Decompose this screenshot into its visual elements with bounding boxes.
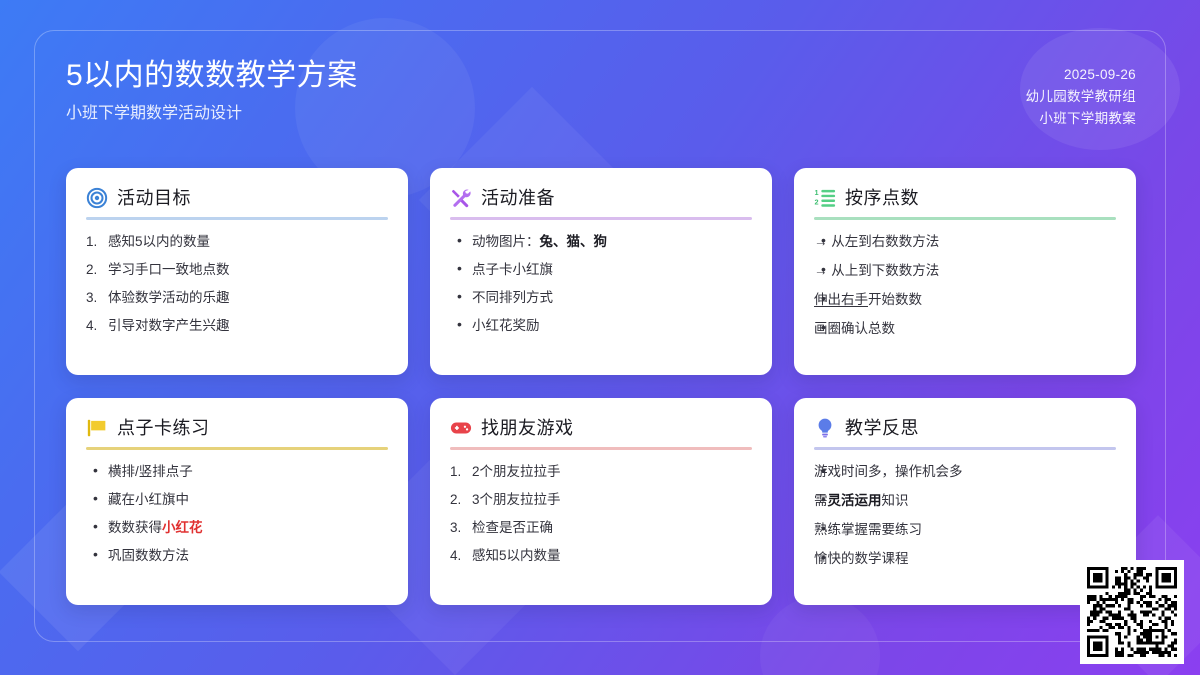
meta-scope: 小班下学期教案 xyxy=(1026,108,1136,130)
meta-org: 幼儿园数学教研组 xyxy=(1026,86,1136,108)
lightbulb-icon xyxy=(814,417,836,439)
meta-date: 2025-09-26 xyxy=(1026,64,1136,86)
goals-list: 感知5以内的数量 学习手口一致地点数 体验数学活动的乐趣 引导对数字产生兴趣 xyxy=(86,232,388,335)
numbered-list-icon: 1 2 xyxy=(814,187,836,209)
svg-text:1: 1 xyxy=(814,188,818,197)
card-find-friend-game[interactable]: 找朋友游戏 2个朋友拉拉手 3个朋友拉拉手 检查是否正确 感知5以内数量 xyxy=(430,398,772,605)
flag-icon xyxy=(86,417,108,439)
list-item-emphasis: 灵活运用 xyxy=(828,493,882,508)
card-header: 教学反思 xyxy=(814,416,1116,447)
card-header: 点子卡练习 xyxy=(86,416,388,447)
list-item: 小红花奖励 xyxy=(450,316,752,335)
qr-code[interactable] xyxy=(1080,560,1184,664)
card-underline xyxy=(450,217,752,220)
reflection-list: 游戏时间多，操作机会多 需灵活运用知识 熟练掌握需要练习 愉快的数学课程 xyxy=(814,462,1116,568)
list-item: 巩固数数方法 xyxy=(86,546,388,565)
list-item: 学习手口一致地点数 xyxy=(86,260,388,279)
svg-text:2: 2 xyxy=(814,198,818,207)
card-title: 点子卡练习 xyxy=(117,416,210,440)
list-item: 游戏时间多，操作机会多 xyxy=(814,462,1116,481)
card-header: 活动目标 xyxy=(86,186,388,217)
card-underline xyxy=(814,447,1116,450)
card-dot-card-practice[interactable]: 点子卡练习 横排/竖排点子 藏在小红旗中 数数获得小红花 巩固数数方法 xyxy=(66,398,408,605)
card-activity-prep[interactable]: 活动准备 动物图片：兔、猫、狗 点子卡小红旗 不同排列方式 小红花奖励 xyxy=(430,168,772,375)
card-header: 1 2 按序点数 xyxy=(814,186,1116,217)
card-title: 找朋友游戏 xyxy=(481,416,574,440)
page-subtitle: 小班下学期数学活动设计 xyxy=(66,101,358,127)
list-item-text: 需 xyxy=(814,493,828,508)
prep-list: 动物图片：兔、猫、狗 点子卡小红旗 不同排列方式 小红花奖励 xyxy=(450,232,752,335)
list-item: → 从左到右数数方法 xyxy=(814,232,1116,251)
list-item: 2个朋友拉拉手 xyxy=(450,462,752,481)
list-item: → 从上到下数数方法 xyxy=(814,261,1116,280)
card-header: 活动准备 xyxy=(450,186,752,217)
list-item: 引导对数字产生兴趣 xyxy=(86,316,388,335)
card-title: 按序点数 xyxy=(845,186,919,210)
list-item-text: 动物图片： xyxy=(472,234,540,249)
tools-icon xyxy=(450,187,472,209)
list-item-emphasis: 伸出右手 xyxy=(814,292,868,307)
counting-list: → 从左到右数数方法 → 从上到下数数方法 伸出右手开始数数 画圈确认总数 xyxy=(814,232,1116,338)
list-item: 3个朋友拉拉手 xyxy=(450,490,752,509)
practice-list: 横排/竖排点子 藏在小红旗中 数数获得小红花 巩固数数方法 xyxy=(86,462,388,565)
card-underline xyxy=(86,447,388,450)
list-item: 伸出右手开始数数 xyxy=(814,290,1116,309)
qr-code-image xyxy=(1087,567,1177,657)
list-item-text: 开始数数 xyxy=(868,292,922,307)
list-item: 体验数学活动的乐趣 xyxy=(86,288,388,307)
header-meta: 2025-09-26 幼儿园数学教研组 小班下学期教案 xyxy=(1026,64,1136,130)
target-icon xyxy=(86,187,108,209)
list-item: 感知5以内数量 xyxy=(450,546,752,565)
list-item: 检查是否正确 xyxy=(450,518,752,537)
card-title: 活动准备 xyxy=(481,186,555,210)
card-ordered-counting[interactable]: 1 2 按序点数 → 从左到右数数方法 → 从上到下数数方法 伸出右手开始数数 … xyxy=(794,168,1136,375)
list-item-emphasis: 小红花 xyxy=(162,520,203,535)
card-underline xyxy=(86,217,388,220)
card-header: 找朋友游戏 xyxy=(450,416,752,447)
list-item-text-after: 知识 xyxy=(882,493,909,508)
slide-root: 5以内的数数教学方案 小班下学期数学活动设计 2025-09-26 幼儿园数学教… xyxy=(0,0,1200,675)
list-item: 横排/竖排点子 xyxy=(86,462,388,481)
card-activity-goals[interactable]: 活动目标 感知5以内的数量 学习手口一致地点数 体验数学活动的乐趣 引导对数字产… xyxy=(66,168,408,375)
game-list: 2个朋友拉拉手 3个朋友拉拉手 检查是否正确 感知5以内数量 xyxy=(450,462,752,565)
list-item: 画圈确认总数 xyxy=(814,319,1116,338)
list-item: 数数获得小红花 xyxy=(86,518,388,537)
slide-header: 5以内的数数教学方案 小班下学期数学活动设计 2025-09-26 幼儿园数学教… xyxy=(66,56,1136,144)
card-underline xyxy=(450,447,752,450)
card-grid: 活动目标 感知5以内的数量 学习手口一致地点数 体验数学活动的乐趣 引导对数字产… xyxy=(66,168,1136,605)
list-item: 点子卡小红旗 xyxy=(450,260,752,279)
list-item: 不同排列方式 xyxy=(450,288,752,307)
list-item: 愉快的数学课程 xyxy=(814,549,1116,568)
page-title: 5以内的数数教学方案 xyxy=(66,56,358,96)
card-underline xyxy=(814,217,1116,220)
list-item-text: 数数获得 xyxy=(108,520,162,535)
card-title: 教学反思 xyxy=(845,416,919,440)
gamepad-icon xyxy=(450,417,472,439)
list-item: 藏在小红旗中 xyxy=(86,490,388,509)
list-item: 需灵活运用知识 xyxy=(814,491,1116,510)
list-item-emphasis: 兔、猫、狗 xyxy=(540,234,608,249)
list-item: 熟练掌握需要练习 xyxy=(814,520,1116,539)
list-item: 动物图片：兔、猫、狗 xyxy=(450,232,752,251)
card-title: 活动目标 xyxy=(117,186,191,210)
header-left: 5以内的数数教学方案 小班下学期数学活动设计 xyxy=(66,56,358,127)
list-item: 感知5以内的数量 xyxy=(86,232,388,251)
